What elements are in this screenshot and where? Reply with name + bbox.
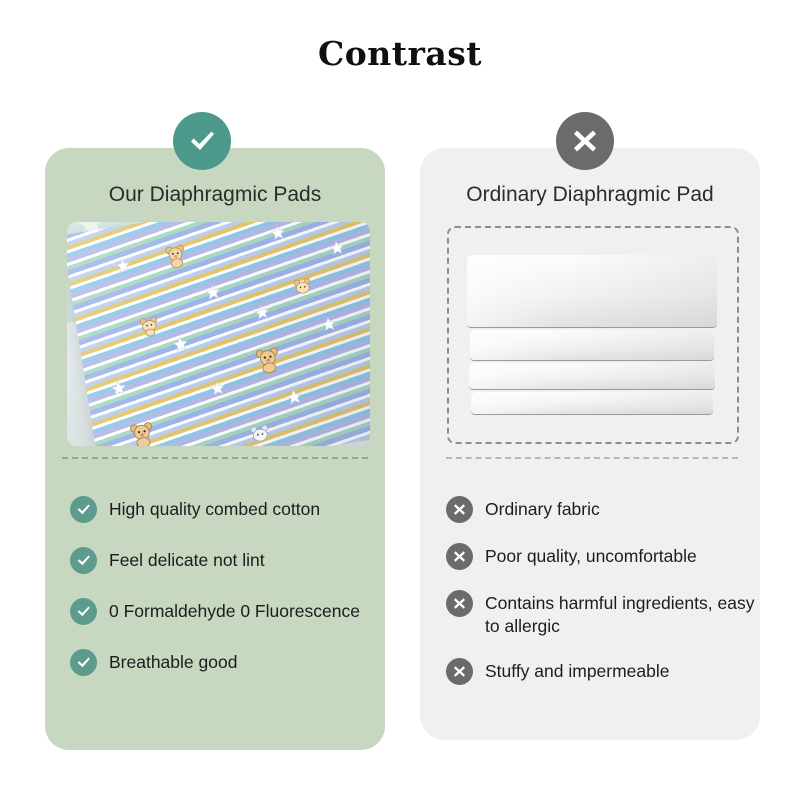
- list-item: Feel delicate not lint: [70, 549, 380, 574]
- pad-shading: [67, 222, 370, 446]
- cross-circle-icon: [446, 658, 473, 685]
- list-item-label: Contains harmful ingredients, easy to al…: [485, 592, 758, 638]
- star-motif-icon: [114, 257, 131, 274]
- check-circle-icon: [70, 649, 97, 676]
- check-circle-icon: [70, 598, 97, 625]
- list-item-label: Feel delicate not lint: [109, 549, 265, 572]
- bear-motif-icon: [136, 313, 163, 340]
- star-motif-icon: [209, 380, 226, 397]
- bear-motif-icon: [246, 421, 275, 446]
- star-motif-icon: [320, 316, 337, 333]
- star-motif-icon: [204, 283, 222, 301]
- folded-towel: [467, 255, 717, 327]
- star-motif-icon: [171, 335, 189, 353]
- star-motif-icon: [285, 388, 303, 406]
- feature-list-good: High quality combed cotton Feel delicate…: [70, 498, 380, 702]
- panel-heading-bad: Ordinary Diaphragmic Pad: [420, 183, 760, 207]
- list-item-label: High quality combed cotton: [109, 498, 320, 521]
- folded-towel: [470, 330, 714, 360]
- towel-sheen: [470, 330, 714, 360]
- list-item: Contains harmful ingredients, easy to al…: [446, 592, 758, 638]
- list-item-label: Breathable good: [109, 651, 237, 674]
- cross-circle-icon: [446, 496, 473, 523]
- list-item: 0 Formaldehyde 0 Fluorescence: [70, 600, 380, 625]
- star-motif-icon: [269, 224, 286, 241]
- list-item-label: 0 Formaldehyde 0 Fluorescence: [109, 600, 360, 623]
- list-item: Breathable good: [70, 651, 380, 676]
- bear-motif-icon: [161, 242, 191, 272]
- towel-sheen: [467, 255, 717, 327]
- list-item-label: Stuffy and impermeable: [485, 660, 670, 683]
- list-item: Ordinary fabric: [446, 498, 758, 523]
- bear-motif-icon: [290, 275, 316, 301]
- towel-sheen: [471, 392, 713, 414]
- cross-circle-icon: [446, 590, 473, 617]
- product-photo-good: [67, 222, 370, 446]
- list-item-label: Poor quality, uncomfortable: [485, 545, 697, 568]
- star-motif-icon: [110, 379, 128, 397]
- bear-motif-icon: [252, 345, 284, 377]
- bear-motif-icon: [126, 419, 158, 446]
- cross-circle-icon: [446, 543, 473, 570]
- page-title: Contrast: [0, 34, 800, 73]
- check-circle-icon: [70, 547, 97, 574]
- star-motif-icon: [254, 304, 271, 321]
- product-photo-bad: [447, 226, 739, 444]
- towel-stack: [467, 255, 717, 412]
- cross-circle-icon: [556, 112, 614, 170]
- folded-towel: [471, 392, 713, 414]
- towel-sheen: [469, 363, 715, 389]
- section-divider-good: [62, 457, 368, 459]
- panel-heading-good: Our Diaphragmic Pads: [45, 183, 385, 207]
- star-motif-icon: [328, 239, 345, 256]
- list-item: Poor quality, uncomfortable: [446, 545, 758, 570]
- check-circle-icon: [173, 112, 231, 170]
- list-item-label: Ordinary fabric: [485, 498, 600, 521]
- section-divider-bad: [446, 457, 738, 459]
- feature-list-bad: Ordinary fabric Poor quality, uncomforta…: [446, 498, 758, 707]
- folded-towel: [469, 363, 715, 389]
- striped-pad: [67, 222, 370, 446]
- list-item: Stuffy and impermeable: [446, 660, 758, 685]
- list-item: High quality combed cotton: [70, 498, 380, 523]
- check-circle-icon: [70, 496, 97, 523]
